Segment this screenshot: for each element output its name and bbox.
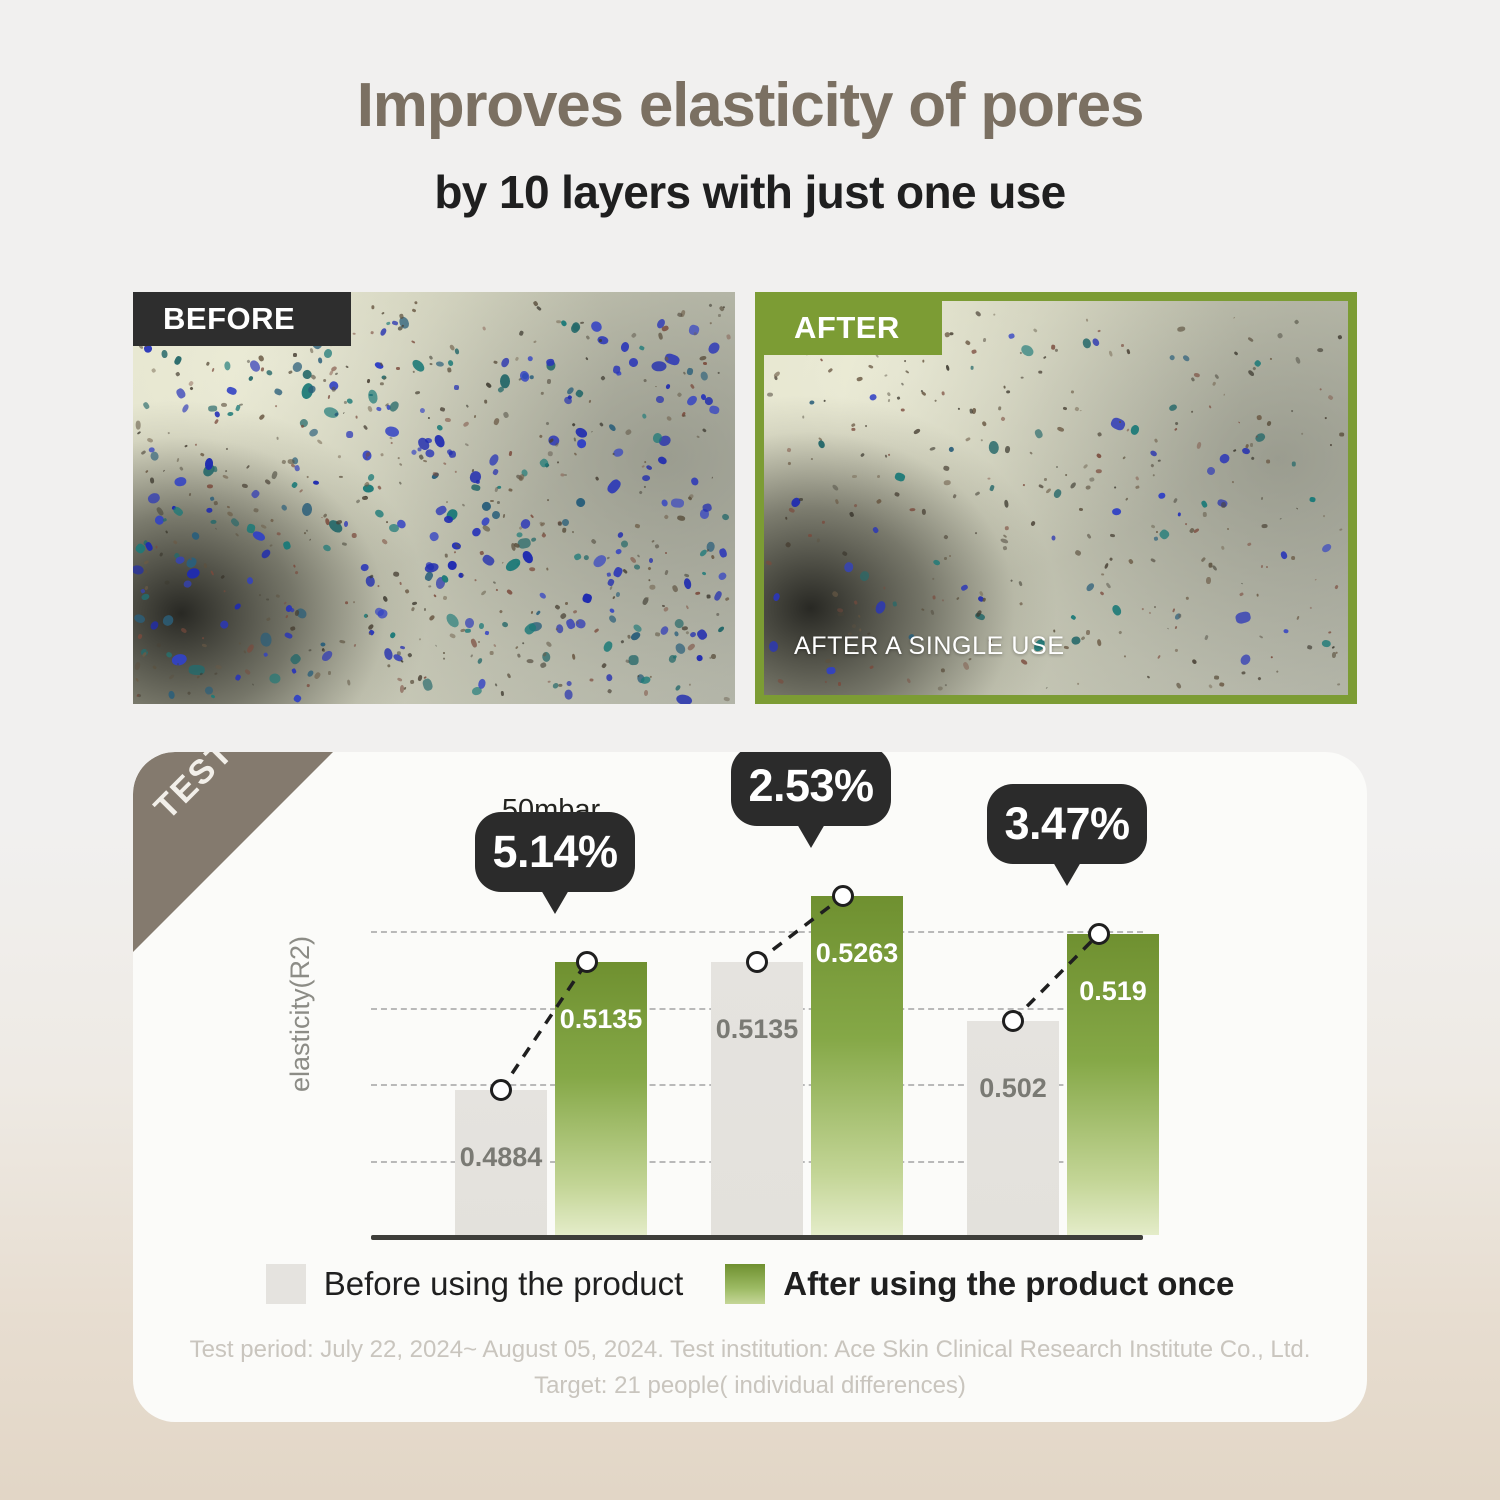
legend-label-after: After using the product once <box>783 1265 1234 1303</box>
bar-before <box>711 962 803 1235</box>
test-results-card: TEST elasticity(R2) 50mbar250mbar500mbar… <box>133 752 1367 1422</box>
page-title: Improves elasticity of pores <box>0 72 1500 140</box>
bar-value-after: 0.5135 <box>555 1004 647 1035</box>
trend-marker-before <box>490 1079 512 1101</box>
bar-value-before: 0.4884 <box>455 1142 547 1173</box>
bar-after <box>555 962 647 1235</box>
improvement-badge: 2.53% <box>731 752 891 826</box>
chart-legend: Before using the product After using the… <box>133 1264 1367 1304</box>
footnote-line-2: Target: 21 people( individual difference… <box>173 1368 1327 1404</box>
bar-value-after: 0.519 <box>1067 976 1159 1007</box>
test-footnote: Test period: July 22, 2024~ August 05, 2… <box>173 1332 1327 1404</box>
after-photo-card: AFTER AFTER A SINGLE USE <box>755 292 1357 704</box>
trend-marker-after <box>1088 923 1110 945</box>
after-photo-caption: AFTER A SINGLE USE <box>794 632 1065 661</box>
legend-item-after: After using the product once <box>725 1264 1234 1304</box>
footnote-line-1: Test period: July 22, 2024~ August 05, 2… <box>173 1332 1327 1368</box>
bar-value-before: 0.5135 <box>711 1014 803 1045</box>
before-label-tag: BEFORE <box>133 292 351 346</box>
trend-marker-before <box>746 951 768 973</box>
trend-marker-before <box>1002 1010 1024 1032</box>
trend-marker-after <box>576 951 598 973</box>
elasticity-bar-chart: elasticity(R2) 50mbar250mbar500mbar 0.48… <box>133 752 1367 1422</box>
legend-label-before: Before using the product <box>324 1265 684 1303</box>
legend-item-before: Before using the product <box>266 1264 684 1304</box>
improvement-badge: 5.14% <box>475 812 635 892</box>
chart-gridline <box>371 931 1143 933</box>
before-photo-card: BEFORE <box>133 292 735 704</box>
headline-block: Improves elasticity of pores by 10 layer… <box>0 72 1500 219</box>
bar-value-after: 0.5263 <box>811 938 903 969</box>
improvement-badge: 3.47% <box>987 784 1147 864</box>
legend-swatch-before-icon <box>266 1264 306 1304</box>
chart-y-axis-label: elasticity(R2) <box>285 936 316 1092</box>
page-subtitle: by 10 layers with just one use <box>0 166 1500 219</box>
before-after-comparison: BEFORE AFTER AFTER A SINGLE USE <box>133 292 1367 704</box>
chart-baseline-axis <box>371 1235 1143 1240</box>
legend-swatch-after-icon <box>725 1264 765 1304</box>
bar-value-before: 0.502 <box>967 1073 1059 1104</box>
bar-before <box>967 1021 1059 1236</box>
after-label-tag: AFTER <box>764 301 942 355</box>
before-pore-markers <box>133 292 735 704</box>
